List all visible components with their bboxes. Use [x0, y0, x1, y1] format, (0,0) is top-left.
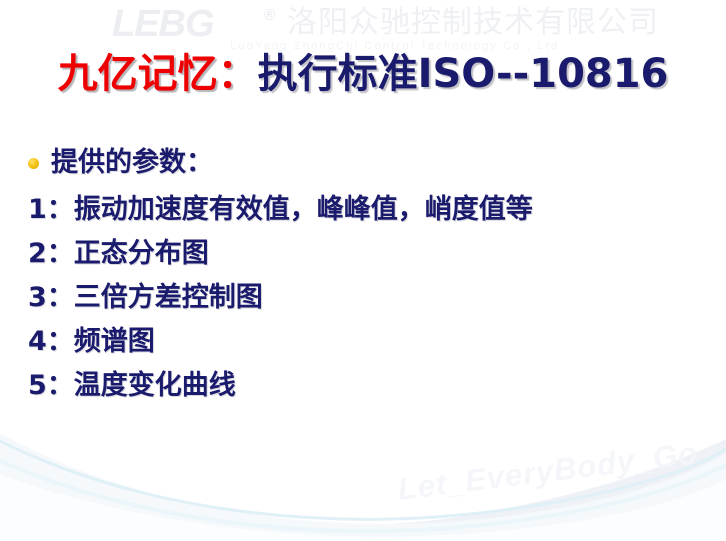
slide-canvas: LEBG ® 洛阳众驰控制技术有限公司 LuoYang ZhongChi Con… [0, 0, 726, 541]
slide-title-standard: 执行标准ISO--10816 [258, 51, 669, 97]
list-item: 4：频谱图 [28, 320, 708, 364]
list-item: 1：振动加速度有效值，峰峰值，峭度值等 [28, 188, 708, 232]
watermark-company-name-cn: 洛阳众驰控制技术有限公司 [287, 5, 659, 41]
wave-shape-front [0, 475, 726, 541]
bullet-item-label: 提供的参数： [51, 146, 213, 180]
watermark-logo-text: LEBG [112, 4, 214, 44]
bullet-list-item: 提供的参数： [28, 146, 708, 180]
slide-title: 九亿记忆：执行标准ISO--10816 [0, 48, 726, 109]
registered-trademark-icon: ® [262, 6, 277, 24]
bullet-dot-icon [28, 158, 39, 169]
footer-ghost-slogan: Let_EveryBody_Go [396, 435, 700, 508]
list-item: 2：正态分布图 [28, 232, 708, 276]
slide-title-highlight: 九亿记忆： [58, 51, 258, 97]
slide-body: 提供的参数： 1：振动加速度有效值，峰峰值，峭度值等 2：正态分布图 3：三倍方… [28, 146, 708, 408]
footer-wave-decoration [0, 431, 726, 541]
wave-shape-back [0, 439, 726, 541]
list-item: 3：三倍方差控制图 [28, 276, 708, 320]
wave-line-accent [0, 441, 726, 519]
list-item: 5：温度变化曲线 [28, 364, 708, 408]
wave-line-secondary [0, 461, 726, 531]
wave-shape-mid [0, 433, 726, 541]
